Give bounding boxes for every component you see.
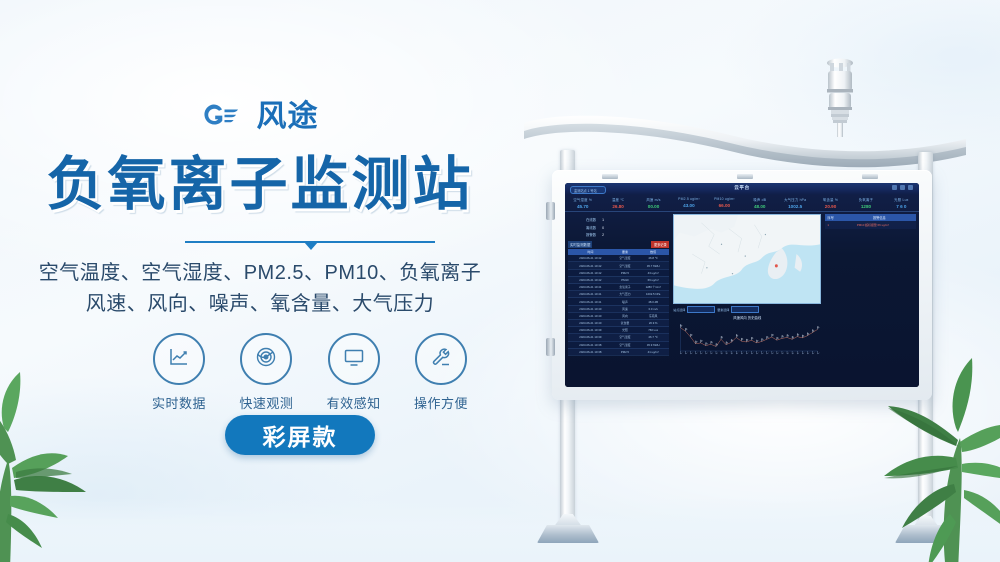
metric-key: 氧含量 % (813, 197, 848, 202)
status-key: 报警数 (586, 233, 596, 237)
dashboard-title: 云平台 (565, 185, 919, 191)
alarm-column-index: 序号 (827, 215, 844, 220)
table-row: 2023-06-21 10:41噪声48.0 dB (568, 298, 669, 305)
metric-key: 光照 Lux (884, 197, 919, 202)
status-key: 在线数 (586, 218, 596, 222)
metric-card[interactable]: PM2.5 ug/m³ 43.00 (671, 195, 706, 211)
promo-banner: 风途 负氧离子监测站 空气温度、空气湿度、PM2.5、PM10、负氧离子 风速、… (0, 0, 1000, 562)
header-icon-group[interactable] (892, 185, 913, 190)
metric-value: 43.00 (671, 203, 706, 208)
status-row: 在线数1 (586, 217, 669, 222)
alarm-column-message: 报警信息 (845, 215, 914, 220)
table-row: 2023-06-21 10:41大气压力1002.5 hPa (568, 291, 669, 298)
product-variant-badge[interactable]: 彩屏款 (225, 415, 375, 455)
subtitle-line-2: 风速、风向、噪声、氧含量、大气压力 (0, 289, 520, 320)
table-row: 2023-06-21 10:40风速0.0 m/s (568, 305, 669, 312)
status-row: 离线数0 (586, 225, 669, 230)
metric-card[interactable]: 氧含量 % 20.90 (813, 195, 848, 211)
metric-value: 1002.5 (777, 204, 812, 209)
metric-card[interactable]: 风速 m/s 00.00 (636, 195, 671, 211)
user-icon[interactable] (908, 185, 913, 190)
display-cabinet: 监测站点 1 号站 云平台 空气湿度 % 45.70 (552, 170, 932, 400)
metric-key: PM10 ug/m³ (707, 197, 742, 201)
table-row: 2023-06-21 10:38空气湿度45.9 %RH (568, 341, 669, 348)
metric-value: 7 6 0 (884, 204, 919, 209)
metric-key: 空气湿度 % (565, 197, 600, 202)
table-row: 2023-06-21 10:42PM2.543 ug/m³ (568, 269, 669, 276)
feature-label: 有效感知 (315, 393, 393, 412)
metric-value: 48.00 (742, 204, 777, 209)
feature-ring (240, 333, 292, 385)
status-row: 报警数2 (586, 232, 669, 237)
metric-key: 风速 m/s (636, 197, 671, 202)
station-map[interactable] (673, 214, 821, 304)
left-panel: 在线数1 离线数0 报警数2 实时监测数据 更多记录 时间 (565, 212, 671, 387)
right-panel: 序号 报警信息 1 PM10 超标报警 66 ug/m³ (823, 212, 919, 387)
feature-item-realtime-data: 实时数据 (140, 333, 218, 412)
feature-item-effective-sensing: 有效感知 (315, 333, 393, 412)
status-summary: 在线数1 离线数0 报警数2 (586, 217, 669, 237)
element-select[interactable] (731, 306, 759, 313)
metric-card[interactable]: 大气压力 hPa 1002.5 (777, 195, 812, 211)
history-chart: 风速风向 历史曲线 (673, 315, 821, 361)
record-table-title: 实时监测数据 (568, 241, 592, 248)
metric-key: 温度 ℃ (600, 197, 635, 202)
ultrasonic-weather-sensor-icon (817, 55, 863, 145)
record-table-header: 实时监测数据 更多记录 (568, 241, 669, 248)
table-row: 2023-06-21 10:42空气湿度45.7 %RH (568, 262, 669, 269)
table-row: 2023-06-21 10:40氧含量20.9 % (568, 319, 669, 326)
feature-ring (328, 333, 380, 385)
base-plate-right (895, 525, 957, 543)
brand-logo: 风途 (0, 102, 520, 132)
metric-value: 1280 (848, 204, 883, 209)
status-value: 0 (602, 226, 604, 230)
feature-label: 快速观测 (227, 393, 305, 412)
subtitle: 空气温度、空气湿度、PM2.5、PM10、负氧离子 风速、风向、噪声、氧含量、大… (0, 258, 520, 320)
table-row: 2023-06-21 10:39光照760 Lux (568, 327, 669, 334)
metric-card[interactable]: PM10 ug/m³ 66.00 (707, 195, 742, 211)
monitor-icon (342, 345, 366, 374)
alarm-index: 1 (827, 223, 856, 227)
status-value: 2 (602, 233, 604, 237)
metric-key: 负氧离子 (848, 197, 883, 202)
table-row: 2023-06-21 10:42空气温度26.8 ℃ (568, 255, 669, 262)
dashboard-body: 在线数1 离线数0 报警数2 实时监测数据 更多记录 时间 (565, 212, 919, 387)
chart-title: 风速风向 历史曲线 (673, 315, 821, 320)
metric-card[interactable]: 光照 Lux 7 6 0 (884, 195, 919, 211)
metric-value: 66.00 (707, 203, 742, 208)
metric-value: 45.70 (565, 204, 600, 209)
station-select-label: 站点选择 (673, 308, 685, 312)
weather-icon[interactable] (892, 185, 897, 190)
feature-item-easy-operation: 操作方便 (402, 333, 480, 412)
feature-ring (415, 333, 467, 385)
dashboard-screen[interactable]: 监测站点 1 号站 云平台 空气湿度 % 45.70 (565, 183, 919, 387)
screen-bezel: 监测站点 1 号站 云平台 空气湿度 % 45.70 (565, 183, 919, 387)
monitoring-station-kiosk: 监测站点 1 号站 云平台 空气湿度 % 45.70 (510, 40, 980, 540)
dashboard-header: 监测站点 1 号站 云平台 (565, 183, 919, 195)
wave-canopy-icon (520, 115, 970, 175)
record-table: 时间 要素 数值 2023-06-21 10:42空气温度26.8 ℃ 2023… (568, 249, 669, 356)
metric-card[interactable]: 负氧离子 1280 (848, 195, 883, 211)
feature-label: 实时数据 (140, 393, 218, 412)
alarm-row[interactable]: 1 PM10 超标报警 66 ug/m³ (825, 221, 916, 228)
fengtu-g-logo-icon (202, 102, 248, 132)
feature-label: 操作方便 (402, 393, 480, 412)
line-chart-icon (167, 345, 191, 374)
title-divider (185, 238, 435, 252)
more-records-button[interactable]: 更多记录 (651, 241, 669, 248)
metric-key: 噪声 dB (742, 197, 777, 202)
alarm-table-header: 序号 报警信息 (825, 214, 916, 221)
status-value: 1 (602, 218, 604, 222)
chart-controls: 站点选择 要素选择 (673, 306, 821, 313)
settings-icon[interactable] (900, 185, 905, 190)
metric-value: 00.00 (636, 204, 671, 209)
wrench-icon (429, 345, 453, 374)
left-text-block: 风途 负氧离子监测站 空气温度、空气湿度、PM2.5、PM10、负氧离子 风速、… (0, 0, 520, 562)
feature-ring (153, 333, 205, 385)
metric-key: 大气压力 hPa (777, 197, 812, 202)
metric-value: 20.90 (813, 204, 848, 209)
table-row: 2023-06-21 10:41负氧离子1280 个/cm³ (568, 284, 669, 291)
alarm-message: PM10 超标报警 66 ug/m³ (857, 223, 914, 227)
base-plate-left (537, 525, 599, 543)
table-row: 2023-06-21 10:38PM2.541 ug/m³ (568, 348, 669, 355)
record-table-body: 2023-06-21 10:42空气温度26.8 ℃ 2023-06-21 10… (568, 255, 669, 355)
radar-scan-icon (254, 345, 278, 374)
feature-list: 实时数据 快速观测 (140, 333, 480, 412)
status-key: 离线数 (586, 226, 596, 230)
metric-strip: 空气湿度 % 45.70 温度 ℃ 26.80 风速 m/s 00.00 P (565, 195, 919, 212)
metric-card[interactable]: 温度 ℃ 26.80 (600, 195, 635, 211)
chart-canvas (673, 315, 821, 361)
metric-card[interactable]: 空气湿度 % 45.70 (565, 195, 600, 211)
divider-arrow-icon (304, 242, 318, 250)
cabinet-hinge[interactable] (546, 338, 555, 356)
table-row: 2023-06-21 10:40风向东南风 (568, 312, 669, 319)
table-row: 2023-06-21 10:42PM1066 ug/m³ (568, 276, 669, 283)
page-title: 负氧离子监测站 (0, 155, 520, 216)
feature-item-fast-observation: 快速观测 (227, 333, 305, 412)
table-row: 2023-06-21 10:39空气温度26.7 ℃ (568, 334, 669, 341)
brand-name: 风途 (257, 102, 319, 132)
cabinet-hinge[interactable] (546, 202, 555, 220)
metric-key: PM2.5 ug/m³ (671, 197, 706, 201)
element-select-label: 要素选择 (717, 308, 729, 312)
subtitle-line-1: 空气温度、空气湿度、PM2.5、PM10、负氧离子 (0, 258, 520, 289)
cabinet-latch (737, 174, 753, 179)
metric-value: 26.80 (600, 204, 635, 209)
metric-card[interactable]: 噪声 dB 48.00 (742, 195, 777, 211)
cabinet-latch (862, 174, 878, 179)
center-panel: 站点选择 要素选择 风速风向 历史曲线 (671, 212, 823, 387)
cabinet-latch (602, 174, 618, 179)
station-select[interactable] (687, 306, 715, 313)
